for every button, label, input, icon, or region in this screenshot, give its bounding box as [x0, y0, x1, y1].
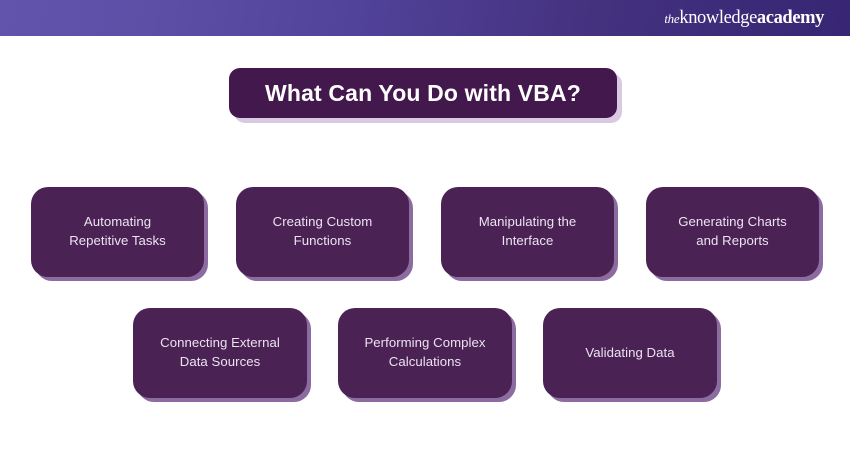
card-body: Validating Data: [543, 308, 717, 398]
card-body: Automating Repetitive Tasks: [31, 187, 204, 277]
page-header: theknowledgeacademy: [0, 0, 850, 36]
card-label: Performing Complex Calculations: [364, 334, 485, 371]
card-label: Connecting External Data Sources: [160, 334, 280, 371]
brand-logo[interactable]: theknowledgeacademy: [664, 9, 824, 28]
card-body: Manipulating the Interface: [441, 187, 614, 277]
card-label: Generating Charts and Reports: [678, 213, 787, 250]
capability-card-manipulating-the-interface[interactable]: Manipulating the Interface: [441, 187, 614, 277]
card-label: Automating Repetitive Tasks: [69, 213, 166, 250]
card-label: Validating Data: [585, 344, 674, 363]
card-body: Connecting External Data Sources: [133, 308, 307, 398]
capability-card-performing-complex-calculations[interactable]: Performing Complex Calculations: [338, 308, 512, 398]
brand-logo-the: the: [664, 11, 679, 26]
card-body: Creating Custom Functions: [236, 187, 409, 277]
brand-logo-academy: academy: [757, 8, 824, 28]
brand-logo-knowledge: knowledge: [679, 8, 757, 28]
card-label: Manipulating the Interface: [479, 213, 577, 250]
capability-card-automating-repetitive-tasks[interactable]: Automating Repetitive Tasks: [31, 187, 204, 277]
title-banner: What Can You Do with VBA?: [229, 68, 617, 118]
card-label: Creating Custom Functions: [273, 213, 373, 250]
capability-card-generating-charts-and-reports[interactable]: Generating Charts and Reports: [646, 187, 819, 277]
capability-card-validating-data[interactable]: Validating Data: [543, 308, 717, 398]
capability-card-creating-custom-functions[interactable]: Creating Custom Functions: [236, 187, 409, 277]
card-body: Generating Charts and Reports: [646, 187, 819, 277]
capability-card-connecting-external-data-sources[interactable]: Connecting External Data Sources: [133, 308, 307, 398]
page-title: What Can You Do with VBA?: [265, 80, 581, 107]
title-banner-body: What Can You Do with VBA?: [229, 68, 617, 118]
card-body: Performing Complex Calculations: [338, 308, 512, 398]
